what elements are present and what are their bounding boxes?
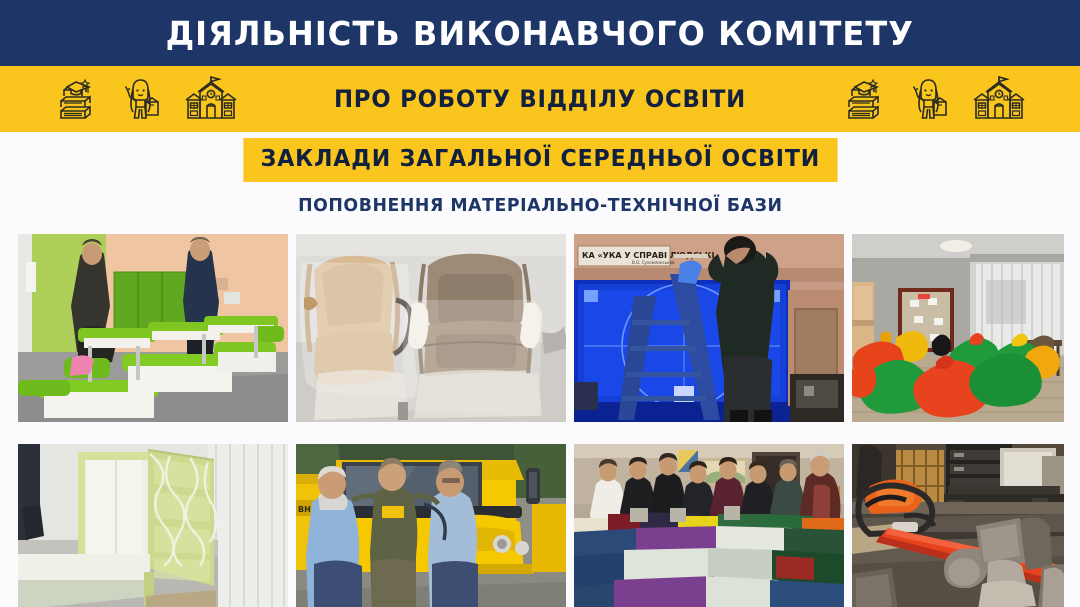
section-heading: ЗАКЛАДИ ЗАГАЛЬНОЇ СЕРЕДНЬОЇ ОСВІТИ xyxy=(243,138,837,182)
section-heading-wrap: ЗАКЛАДИ ЗАГАЛЬНОЇ СЕРЕДНЬОЇ ОСВІТИ xyxy=(0,138,1080,182)
photo-grid: КА «УКА У СПРАВІ ЛЮДСЬКІ В.О. Сухомлинсь… xyxy=(18,234,1062,607)
sub-heading: ПОПОВНЕННЯ МАТЕРІАЛЬНО-ТЕХНІЧНОЇ БАЗИ xyxy=(298,197,782,215)
photo-school-bus: ВН 45 xyxy=(296,444,566,607)
student-girl-icon xyxy=(907,76,949,122)
photo-armchairs xyxy=(296,234,566,422)
photo-wrapped-furniture xyxy=(18,444,288,607)
photo-modular-seating xyxy=(574,444,844,607)
title-bar: ДІЯЛЬНІСТЬ ВИКОНАВЧОГО КОМІТЕТУ xyxy=(0,0,1080,66)
photo-beanbags xyxy=(852,234,1064,422)
slide-root: ДІЯЛЬНІСТЬ ВИКОНАВЧОГО КОМІТЕТУ xyxy=(0,0,1080,607)
photo-projector-install: КА «УКА У СПРАВІ ЛЮДСЬКІ В.О. Сухомлинсь… xyxy=(574,234,844,422)
graduation-cap-books-icon xyxy=(843,77,883,121)
photo-classroom-desks xyxy=(18,234,288,422)
svg-text:В.О. Сухомлинський: В.О. Сухомлинський xyxy=(632,260,675,265)
sub-heading-wrap: ПОПОВНЕННЯ МАТЕРІАЛЬНО-ТЕХНІЧНОЇ БАЗИ xyxy=(0,197,1080,216)
photo-workshop-tools: WAVIN xyxy=(852,444,1064,607)
icon-cluster-right xyxy=(843,76,1025,122)
school-building-icon xyxy=(973,76,1025,122)
yellow-subtitle-bar: ПРО РОБОТУ ВІДДІЛУ ОСВІТИ xyxy=(0,66,1080,132)
page-title: ДІЯЛЬНІСТЬ ВИКОНАВЧОГО КОМІТЕТУ xyxy=(166,17,914,50)
